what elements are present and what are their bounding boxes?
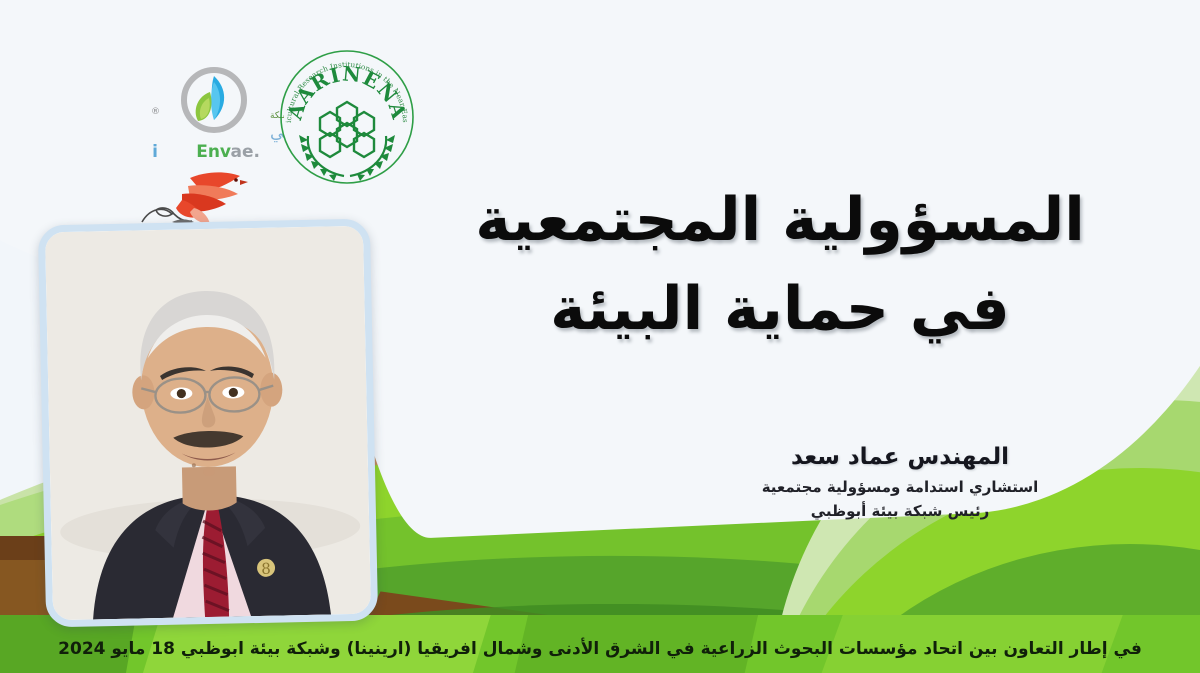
title-line-1: المسؤولية المجتمعية xyxy=(430,176,1130,265)
title-line-2: في حماية البيئة xyxy=(430,265,1130,354)
svg-text:Abudhabi: Abudhabi xyxy=(152,142,158,162)
presenter-role-1: استشاري استدامة ومسؤولية مجتمعية xyxy=(700,475,1100,499)
presenter-name: المهندس عماد سعد xyxy=(700,440,1100,475)
svg-text:®: ® xyxy=(152,107,160,117)
presenter-portrait: 8 xyxy=(38,219,378,628)
presenter-role-2: رئيس شبكة بيئة أبوظبي xyxy=(700,499,1100,523)
aarinena-logo: Association of Agricultural Research Ins… xyxy=(274,44,420,190)
presenter-info: المهندس عماد سعد استشاري استدامة ومسؤولي… xyxy=(700,440,1100,523)
svg-text:AARINENA: AARINENA xyxy=(282,61,411,123)
svg-text:.ae: .ae xyxy=(231,142,260,162)
footer-caption: في إطار التعاون بين اتحاد مؤسسات البحوث … xyxy=(0,639,1200,659)
abudhabi-env-logo: شبكة ® بيئة أبوظبي Abudhabi Env .ae xyxy=(152,58,284,170)
slide-title: المسؤولية المجتمعية في حماية البيئة xyxy=(430,176,1130,354)
svg-text:8: 8 xyxy=(261,560,271,578)
presentation-title-slide: شبكة ® بيئة أبوظبي Abudhabi Env .ae Asso… xyxy=(0,0,1200,673)
svg-text:Env: Env xyxy=(196,142,231,162)
